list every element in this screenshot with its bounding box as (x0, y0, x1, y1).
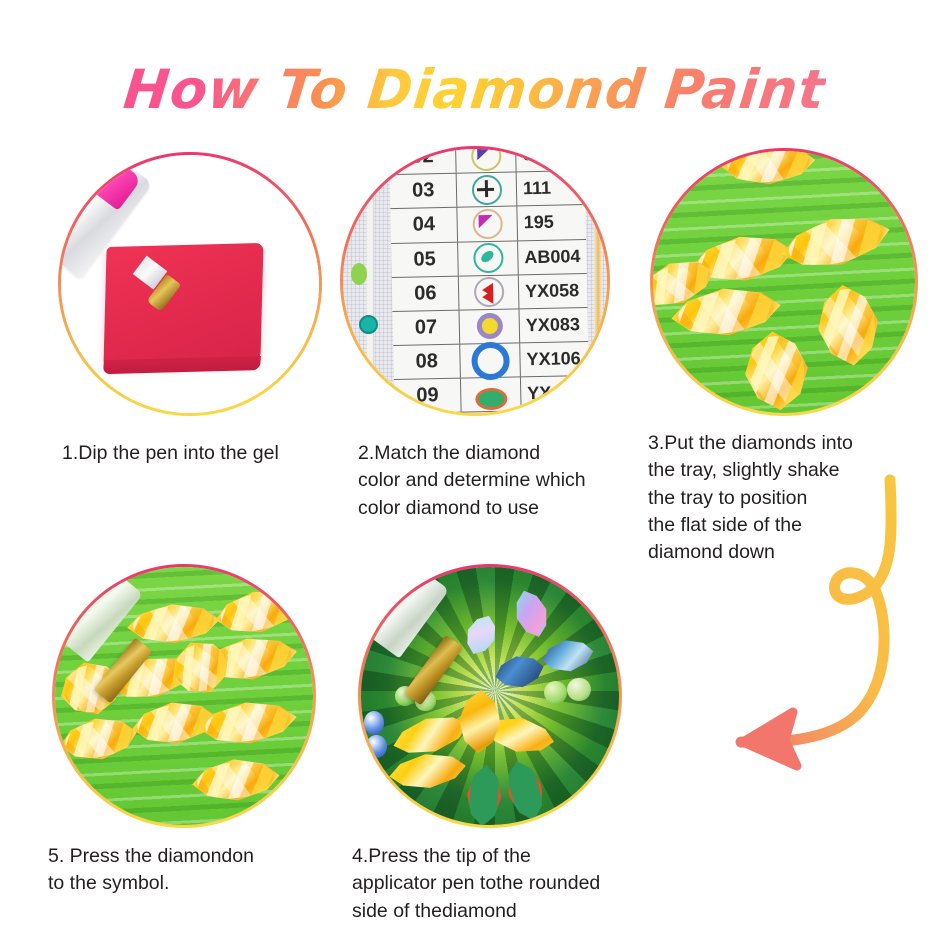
canvas-round-gem (366, 735, 387, 758)
legend-row-number: 06 (392, 277, 460, 312)
title-area: How To Diamond Paint (0, 26, 950, 155)
gel-scene (61, 155, 319, 413)
table-row: 05AB004 (391, 240, 587, 278)
step-3-image-circle (650, 148, 918, 416)
legend-row-symbol-cell (460, 344, 520, 378)
table-row: 08YX106 (393, 342, 589, 380)
legend-row-code: YX058 (519, 280, 588, 302)
canvas-left-margin (367, 149, 374, 413)
legend-row-number: 03 (389, 174, 457, 209)
legend-row-number: 07 (392, 311, 460, 346)
canvas-round-gem (567, 678, 590, 701)
legend-row-code: YX083 (519, 314, 588, 336)
legend-row-symbol-cell (456, 149, 516, 173)
plus-cross-icon (471, 175, 502, 206)
canvas-round-gem (544, 681, 567, 704)
page-title: How To Diamond Paint (121, 62, 828, 119)
step-2-photo: 02093031110419505AB00406YX05807YX08308YX… (343, 149, 607, 413)
legend-row-number: 05 (391, 243, 459, 278)
arrow-head-icon (743, 712, 797, 766)
step-1-image-circle (58, 152, 322, 416)
legend-row-symbol-cell (460, 310, 520, 344)
legend-row-number: 02 (389, 149, 457, 175)
oval-green-icon (475, 388, 507, 411)
step-4-photo (361, 567, 619, 825)
curved-loop-arrow (645, 470, 945, 775)
legend-row-symbol-cell (458, 241, 518, 275)
symbol-legend-table: 02093031110419505AB00406YX05807YX08308YX… (389, 149, 591, 413)
step-4-image-circle (358, 564, 622, 828)
step-5-image-circle (52, 564, 316, 828)
triangle-purple-icon (471, 149, 502, 171)
legend-row-code: YX106 (520, 349, 589, 371)
pink-gel-pad (103, 243, 263, 366)
legend-row-number: 09 (394, 379, 462, 413)
step-1-caption: 1.Dip the pen into the gel (62, 440, 332, 467)
green-tray-scene (653, 151, 915, 413)
table-row: 04195 (390, 206, 586, 244)
table-row: 03111 (389, 172, 585, 210)
step-5-caption: 5. Press the diamondon to the symbol. (48, 843, 338, 898)
step-1-photo (61, 155, 319, 413)
canvas-round-gem (364, 711, 385, 734)
canvas-right-edge-strip (594, 149, 602, 413)
green-tray-scene (55, 567, 313, 825)
legend-row-number: 08 (393, 345, 461, 380)
legend-row-code: 195 (517, 212, 586, 234)
legend-chart-scene: 02093031110419505AB00406YX05807YX08308YX… (343, 149, 607, 413)
canvas-green-speck-icon (351, 263, 367, 285)
ring-blue-icon (471, 342, 510, 381)
oval-slash-teal-icon (473, 243, 504, 274)
triangle-magenta-icon (472, 209, 503, 240)
table-row: 06YX058 (392, 274, 588, 312)
legend-row-number: 04 (390, 208, 458, 243)
legend-row-code: AB004 (518, 246, 587, 268)
step-4-caption: 4.Press the tip of the applicator pen to… (352, 843, 652, 925)
legend-row-symbol-cell (459, 276, 519, 310)
step-2-caption: 2.Match the diamond color and determine … (358, 440, 628, 522)
table-row: 09YX (394, 377, 590, 413)
legend-row-symbol-cell (461, 378, 521, 412)
table-row: 07YX083 (392, 308, 588, 346)
step-5-photo (55, 567, 313, 825)
arrow-left-red-icon (473, 277, 504, 308)
dot-yellow-ring-icon (476, 314, 503, 341)
legend-row-code: 111 (517, 178, 586, 200)
legend-row-symbol-cell (458, 207, 518, 241)
colorful-canvas-scene (361, 567, 619, 825)
canvas-teal-speck-icon (359, 315, 378, 334)
legend-row-code: 093 (516, 149, 585, 166)
legend-row-symbol-cell (457, 173, 517, 207)
step-3-photo (653, 151, 915, 413)
arrow-tail (741, 480, 891, 742)
step-2-image-circle: 02093031110419505AB00406YX05807YX08308YX… (340, 146, 610, 416)
legend-row-code: YX (521, 383, 590, 405)
